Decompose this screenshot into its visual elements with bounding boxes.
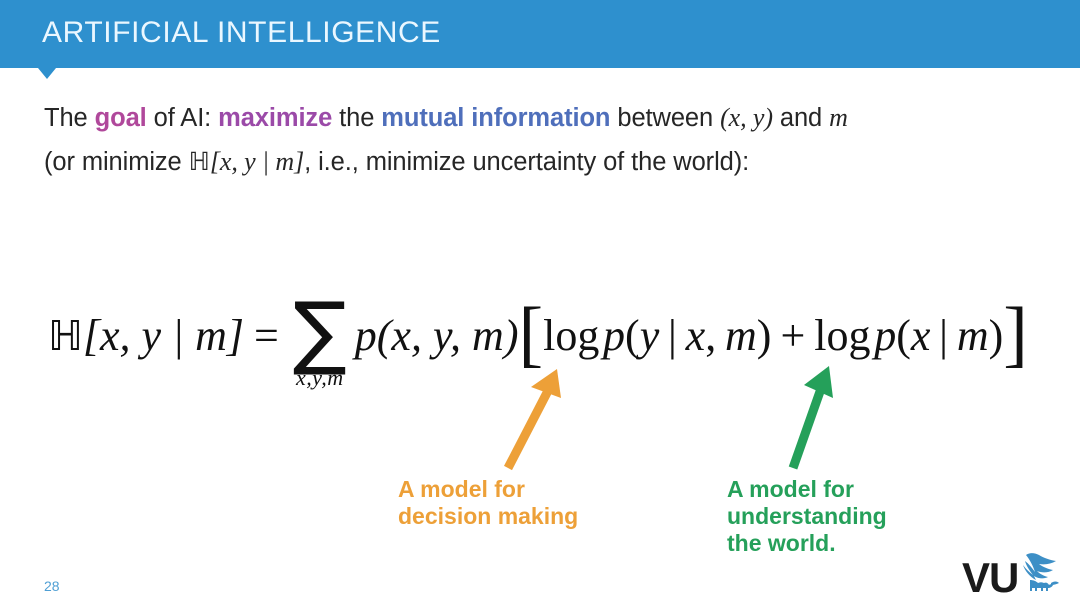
text-the-2: the — [332, 104, 381, 132]
body-line-2: (or minimize ℍ[x, y | m], i.e., minimize… — [44, 140, 1044, 184]
keyword-maximize: maximize — [218, 104, 332, 132]
annotation-understanding-world-line1: A model for — [727, 476, 887, 503]
vu-logo: VU — [962, 552, 1064, 603]
math-entropy-arg: [x, y | m] — [210, 147, 304, 176]
eq-lhs-arg: [x, y | m] — [83, 314, 244, 358]
annotation-decision-making-line2: decision making — [398, 503, 578, 530]
text-or-minimize: (or minimize — [44, 148, 189, 176]
text-and: and — [773, 104, 829, 132]
annotation-understanding-world-line3: the world. — [727, 530, 887, 557]
page-number: 28 — [44, 578, 60, 594]
annotation-understanding-world-line2: understanding — [727, 503, 887, 530]
eq-sum-subscript: x,y,m — [296, 365, 344, 391]
slide: ARTIFICIAL INTELLIGENCE The goal of AI: … — [0, 0, 1080, 615]
math-xy-pair: (x, y) — [720, 103, 773, 132]
header-notch-triangle — [38, 68, 56, 79]
math-blackboard-h: ℍ — [189, 147, 210, 176]
eq-sum-symbol: ∑ — [293, 301, 347, 363]
text-the: The — [44, 104, 95, 132]
keyword-goal: goal — [95, 104, 147, 132]
orange-arrow-icon — [508, 369, 561, 468]
eq-joint-probability: p(x, y, m) — [355, 314, 519, 358]
eq-summation: ∑ x,y,m — [293, 301, 347, 391]
eq-equals-sign: = — [244, 310, 289, 361]
annotation-decision-making-line1: A model for — [398, 476, 578, 503]
annotation-understanding-world: A model for understanding the world. — [727, 476, 887, 557]
body-text: The goal of AI: maximize the mutual info… — [44, 96, 1044, 184]
text-of-ai: of AI: — [147, 104, 219, 132]
text-ie-minimize: , i.e., minimize uncertainty of the worl… — [304, 148, 749, 176]
eq-plus-sign: + — [771, 314, 814, 358]
keyword-mutual-information: mutual information — [381, 104, 610, 132]
eq-log-term-2: log p(x | m) — [814, 314, 1003, 358]
main-equation: ℍ[x, y | m] = ∑ x,y,m p(x, y, m) [ log p… — [48, 292, 1028, 382]
eq-log-term-1: log p(y | x, m) — [543, 314, 771, 358]
eq-blackboard-h: ℍ — [48, 312, 83, 360]
math-m: m — [829, 103, 848, 132]
annotation-decision-making: A model for decision making — [398, 476, 578, 530]
page-title: ARTIFICIAL INTELLIGENCE — [42, 16, 441, 50]
body-line-1: The goal of AI: maximize the mutual info… — [44, 96, 1044, 140]
text-between: between — [610, 104, 720, 132]
vu-logo-text: VU — [962, 557, 1018, 599]
vu-griffin-icon — [1020, 552, 1064, 599]
